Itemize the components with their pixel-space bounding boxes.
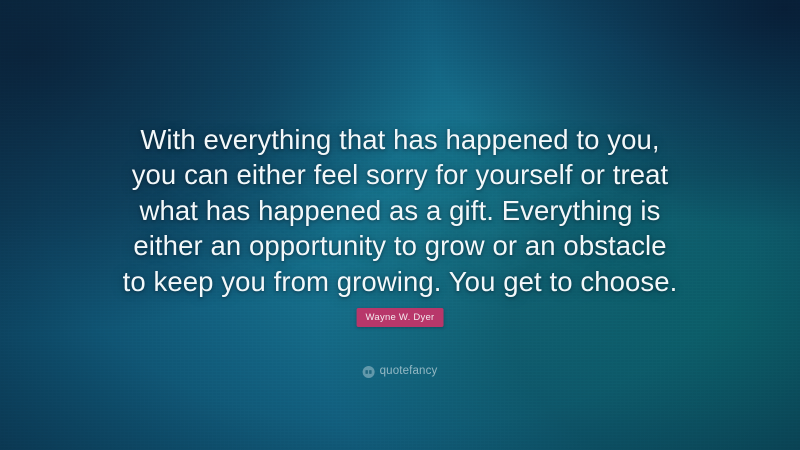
watermark-brand: quotefancy <box>380 366 438 378</box>
quote-text: With everything that has happened to you… <box>100 122 700 299</box>
quote-content: With everything that has happened to you… <box>0 0 800 450</box>
quote-image-card: With everything that has happened to you… <box>0 0 800 450</box>
quote-mark-icon <box>363 366 375 378</box>
watermark[interactable]: quotefancy <box>363 366 438 378</box>
author-badge[interactable]: Wayne W. Dyer <box>357 308 444 327</box>
